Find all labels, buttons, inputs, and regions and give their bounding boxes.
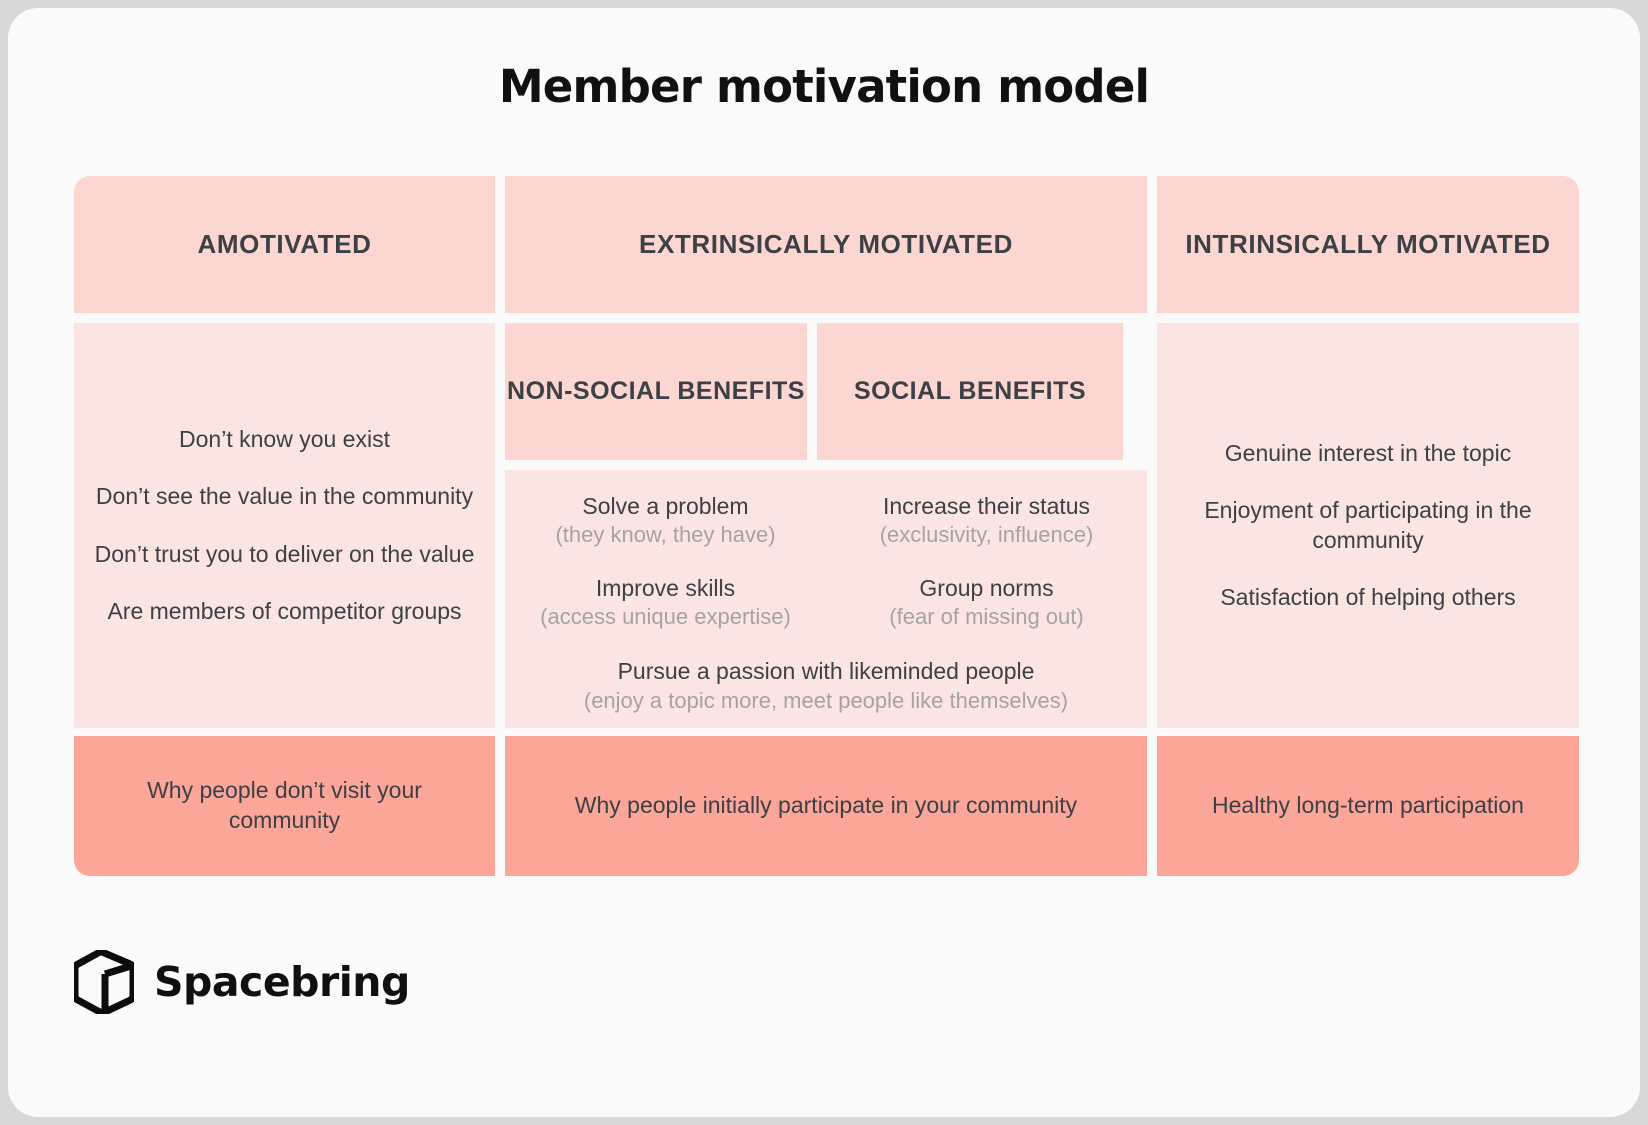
column-body-amotivated: Don’t know you exist Don’t see the value…: [74, 323, 495, 728]
list-item: Satisfaction of helping others: [1220, 583, 1515, 612]
column-footer-amotivated: Why people don’t visit your community: [74, 736, 495, 876]
list-item: Improve skills (access unique expertise): [505, 574, 826, 632]
column-intrinsic: INTRINSICALLY MOTIVATED Genuine interest…: [1157, 176, 1579, 876]
list-item: Increase their status (exclusivity, infl…: [826, 492, 1147, 550]
column-header-extrinsic: EXTRINSICALLY MOTIVATED: [505, 176, 1147, 313]
column-footer-label: Why people initially participate in your…: [575, 791, 1077, 821]
list-item: Don’t know you exist: [179, 425, 390, 454]
benefit-sub: (access unique expertise): [505, 603, 826, 631]
column-amotivated: AMOTIVATED Don’t know you exist Don’t se…: [74, 176, 495, 876]
cube-logo-icon: [74, 950, 134, 1014]
benefit-row: Solve a problem (they know, they have) I…: [505, 492, 1147, 550]
column-footer-extrinsic: Why people initially participate in your…: [505, 736, 1147, 876]
brand-logo: Spacebring: [74, 950, 410, 1014]
list-item: Solve a problem (they know, they have): [505, 492, 826, 550]
column-header-label: EXTRINSICALLY MOTIVATED: [639, 227, 1013, 262]
column-header-intrinsic: INTRINSICALLY MOTIVATED: [1157, 176, 1579, 313]
benefit-main: Group norms: [826, 574, 1147, 603]
benefit-sub: (they know, they have): [505, 521, 826, 549]
column-footer-label: Why people don’t visit your community: [92, 776, 477, 836]
benefit-main: Increase their status: [826, 492, 1147, 521]
column-extrinsic: EXTRINSICALLY MOTIVATED NON-SOCIAL BENEF…: [505, 176, 1147, 876]
benefit-sub: (exclusivity, influence): [826, 521, 1147, 549]
list-item: Group norms (fear of missing out): [826, 574, 1147, 632]
list-item: Are members of competitor groups: [107, 597, 461, 626]
list-item: Enjoyment of participating in the commun…: [1171, 496, 1565, 555]
column-body-extrinsic: Solve a problem (they know, they have) I…: [505, 470, 1147, 728]
benefit-row: Improve skills (access unique expertise)…: [505, 574, 1147, 632]
benefit-sub: (enjoy a topic more, meet people like th…: [505, 687, 1147, 715]
subcolumn-header-row: NON-SOCIAL BENEFITS SOCIAL BENEFITS: [505, 323, 1147, 460]
list-item: Don’t trust you to deliver on the value: [95, 540, 475, 569]
column-footer-intrinsic: Healthy long-term participation: [1157, 736, 1579, 876]
spacer: [505, 550, 1147, 574]
subcolumn-header-label: NON-SOCIAL BENEFITS: [507, 375, 805, 408]
list-item: Don’t see the value in the community: [96, 482, 473, 511]
subcolumn-header-label: SOCIAL BENEFITS: [854, 375, 1086, 408]
column-body-intrinsic: Genuine interest in the topic Enjoyment …: [1157, 323, 1579, 728]
subcolumn-header-social: SOCIAL BENEFITS: [817, 323, 1123, 460]
page-title: Member motivation model: [8, 60, 1640, 113]
column-footer-label: Healthy long-term participation: [1212, 791, 1524, 821]
column-header-label: AMOTIVATED: [197, 227, 371, 262]
benefit-main: Solve a problem: [505, 492, 826, 521]
benefit-main: Pursue a passion with likeminded people: [505, 657, 1147, 686]
subcolumn-header-non-social: NON-SOCIAL BENEFITS: [505, 323, 807, 460]
column-header-amotivated: AMOTIVATED: [74, 176, 495, 313]
infographic-card: Member motivation model AMOTIVATED Don’t…: [8, 8, 1640, 1117]
benefit-sub: (fear of missing out): [826, 603, 1147, 631]
motivation-matrix: AMOTIVATED Don’t know you exist Don’t se…: [74, 176, 1579, 876]
benefit-main: Improve skills: [505, 574, 826, 603]
column-header-label: INTRINSICALLY MOTIVATED: [1185, 227, 1550, 262]
list-item: Genuine interest in the topic: [1225, 439, 1511, 468]
shared-benefit-item: Pursue a passion with likeminded people …: [505, 657, 1147, 715]
brand-name: Spacebring: [154, 958, 410, 1006]
